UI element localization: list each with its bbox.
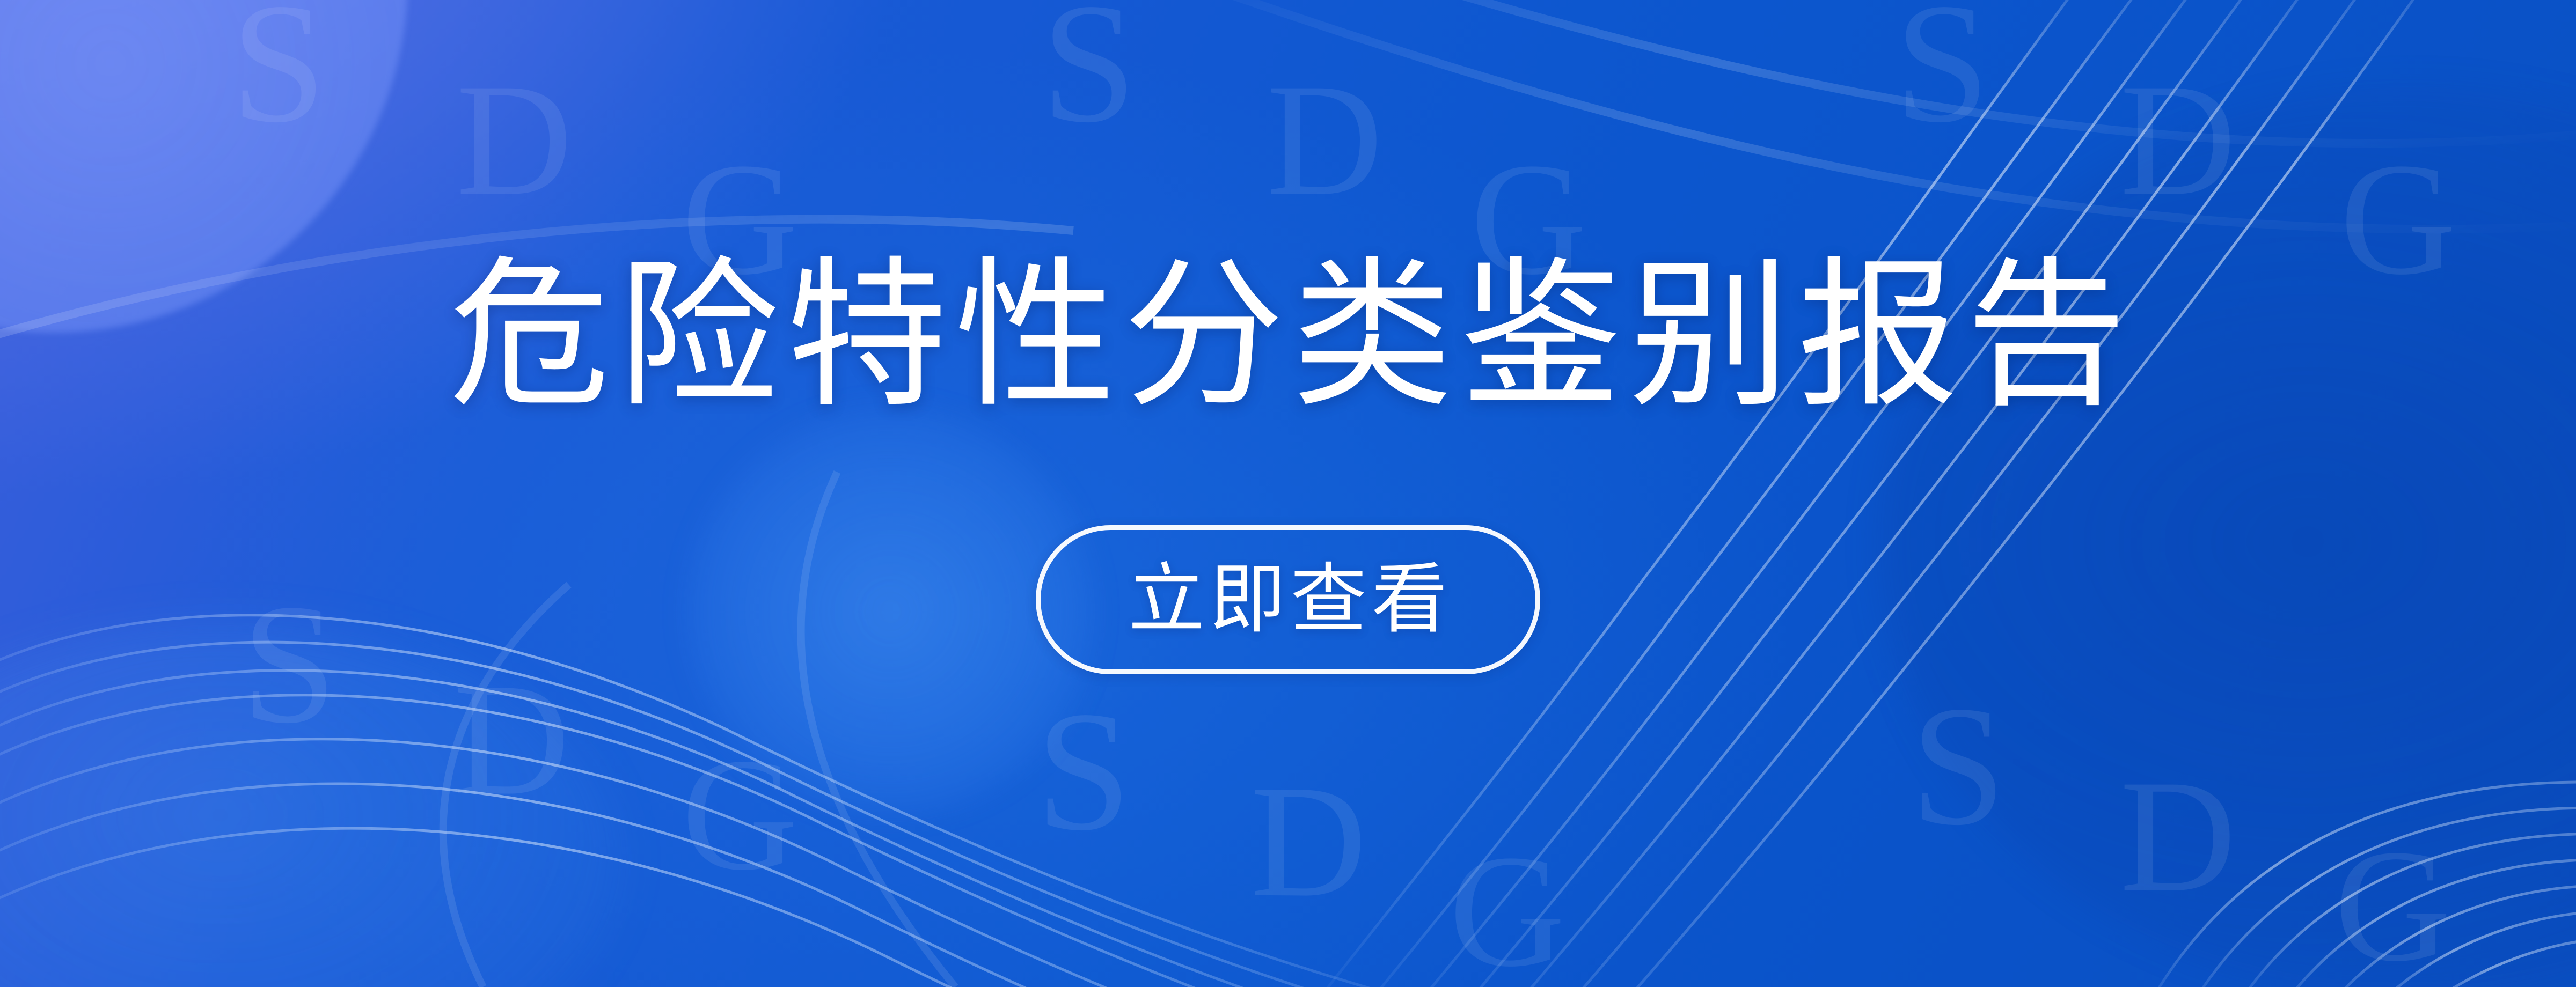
banner-title: 危险特性分类鉴别报告 — [442, 251, 2134, 420]
banner-content: 危险特性分类鉴别报告 立即查看 — [0, 0, 2576, 987]
promo-banner: SDGSDGSDGSDGSDGSDG — [0, 0, 2576, 987]
view-now-button-label: 立即查看 — [1124, 562, 1453, 638]
view-now-button[interactable]: 立即查看 — [1036, 525, 1540, 674]
